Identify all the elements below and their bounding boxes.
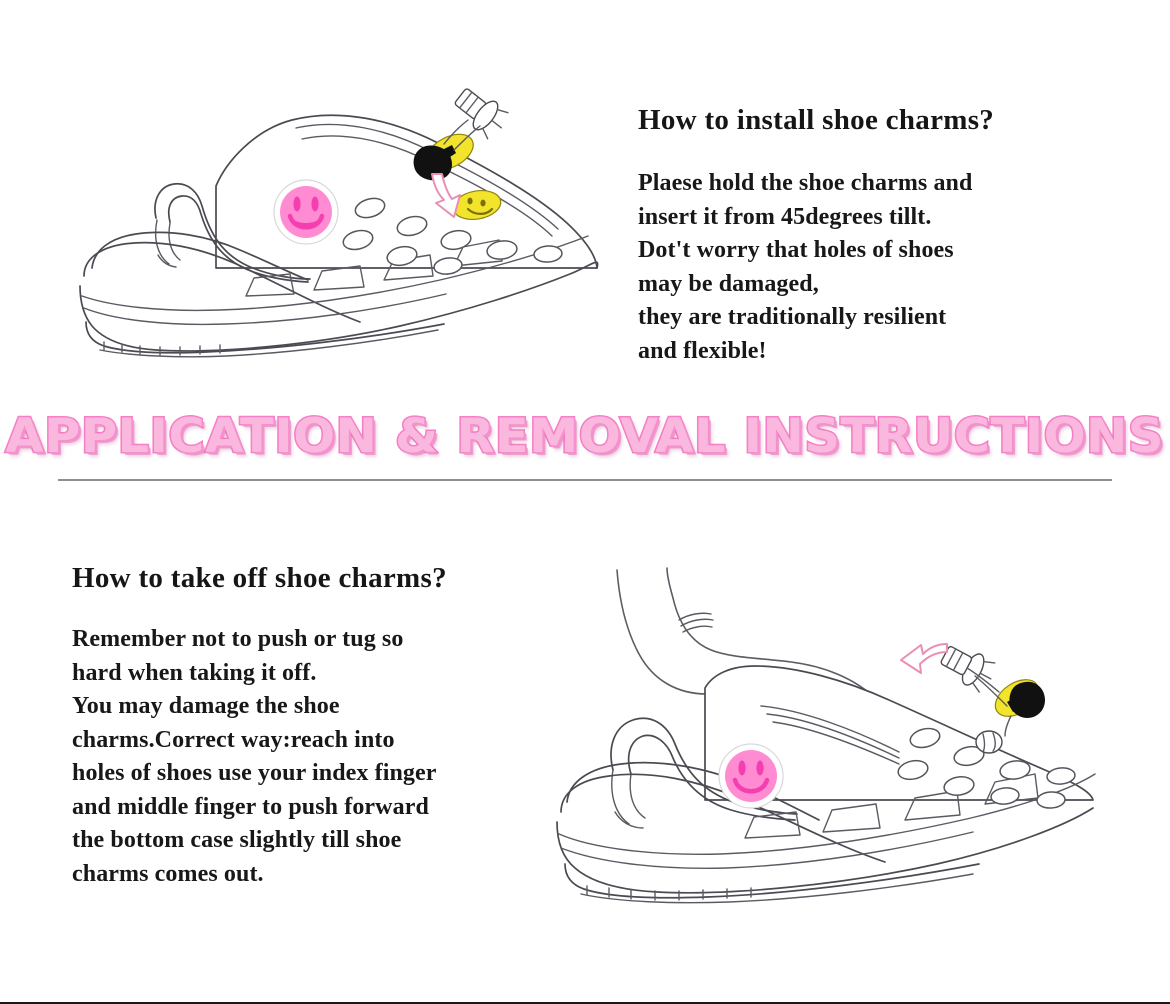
removal-heading: How to take off shoe charms? [72, 562, 592, 595]
pink-smiley-charm-installed [719, 744, 783, 808]
section-divider [58, 479, 1112, 481]
removal-line-2: hard when taking it off. [72, 657, 592, 691]
pink-smiley-charm-installed [274, 180, 338, 244]
removal-section: How to take off shoe charms? Remember no… [0, 500, 1170, 970]
removal-line-3: You may damage the shoe [72, 690, 592, 724]
removal-line-6: and middle finger to push forward [72, 791, 592, 825]
clog-shoe-body [80, 115, 598, 356]
install-line-4: may be damaged, [638, 268, 1108, 302]
banner: APPLICATION & REMOVAL INSTRUCTIONS [0, 404, 1170, 468]
install-heading: How to install shoe charms? [638, 104, 1108, 137]
install-line-3: Dot't worry that holes of shoes [638, 234, 1108, 268]
install-line-2: insert it from 45degrees tillt. [638, 201, 1108, 235]
removal-line-5: holes of shoes use your index finger [72, 757, 592, 791]
install-body: Plaese hold the shoe charms and insert i… [638, 167, 1108, 368]
removal-illustration [555, 570, 1115, 910]
install-illustration [40, 90, 630, 350]
install-line-6: and flexible! [638, 335, 1108, 369]
removal-body: Remember not to push or tug so hard when… [72, 623, 592, 891]
install-text-block: How to install shoe charms? Plaese hold … [638, 104, 1108, 368]
removal-line-7: the bottom case slightly till shoe [72, 824, 592, 858]
install-section: How to install shoe charms? Plaese hold … [0, 0, 1170, 400]
removal-line-4: charms.Correct way:reach into [72, 724, 592, 758]
removal-line-8: charms comes out. [72, 858, 592, 892]
removal-line-1: Remember not to push or tug so [72, 623, 592, 657]
instruction-sheet: How to install shoe charms? Plaese hold … [0, 0, 1170, 1002]
removal-text-block: How to take off shoe charms? Remember no… [72, 562, 592, 891]
install-line-1: Plaese hold the shoe charms and [638, 167, 1108, 201]
banner-title: APPLICATION & REMOVAL INSTRUCTIONS [6, 413, 1165, 460]
install-line-5: they are traditionally resilient [638, 301, 1108, 335]
